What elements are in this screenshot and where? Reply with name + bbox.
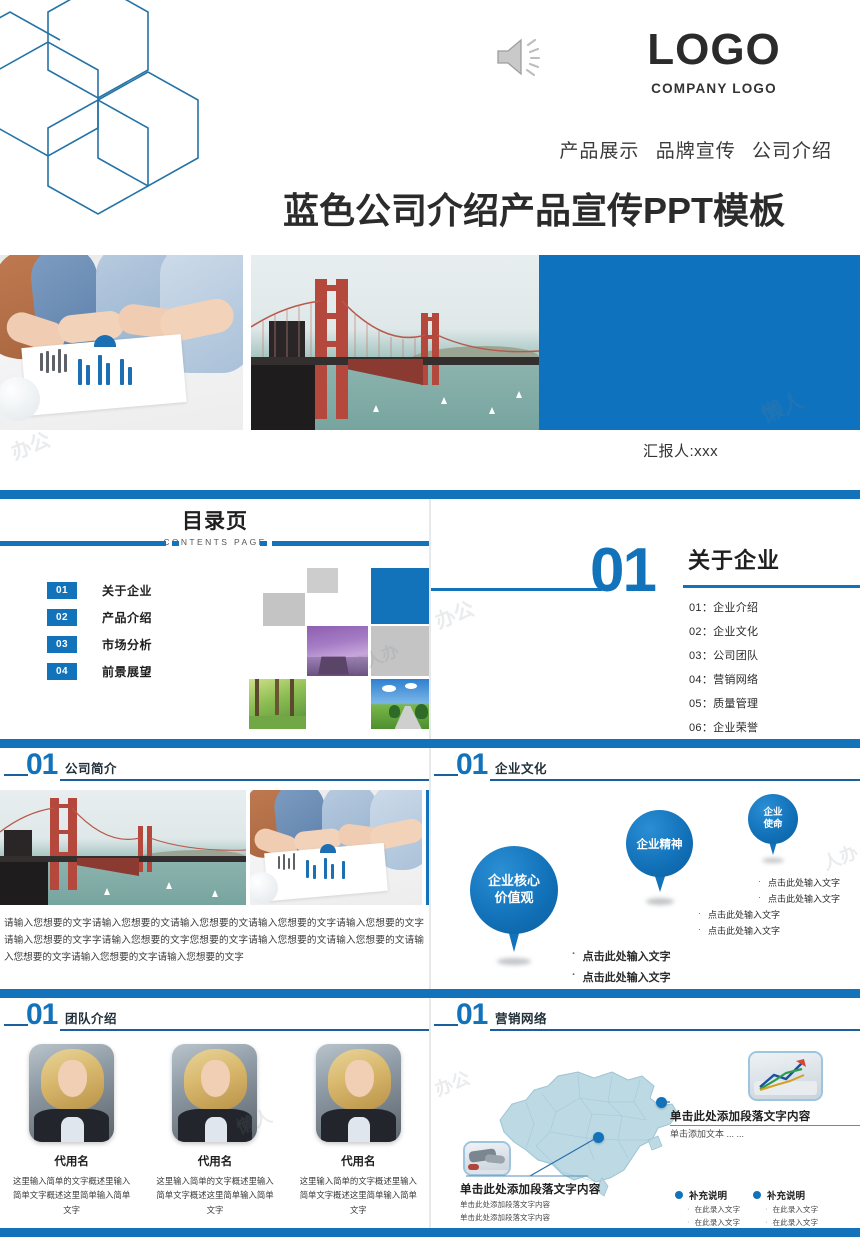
slide-divider: [0, 739, 860, 748]
tagline-item-2: 公司介绍: [752, 141, 832, 162]
culture-note: ·点击此处输入文字: [758, 892, 840, 905]
pin-label: 企业精神: [626, 810, 693, 877]
contents-rule: [0, 541, 430, 546]
map-marker-east[interactable]: [656, 1097, 667, 1108]
contents-item-number: 01: [47, 582, 77, 599]
collage-tile-blue: [371, 568, 430, 624]
tagline-item-1: 品牌宣传: [656, 141, 736, 162]
pin-label: 企业使命: [748, 794, 798, 844]
logo-text: LOGO: [604, 28, 824, 72]
contents-item-04[interactable]: 04 前景展望: [47, 662, 152, 681]
contents-item-02[interactable]: 02 产品介绍: [47, 608, 152, 627]
contents-title-block: 目录页 CONTENTS PAGE: [0, 499, 430, 547]
map-marker-southwest[interactable]: [593, 1132, 604, 1143]
supplement-block-2: 补充说明 ·在此录入文字 ·在此录入文字: [753, 1188, 818, 1228]
slide-row-3: 01 团队介绍 代用名 这里输入简单的文字概述里输入简单文字概述这里简单输入简单…: [0, 998, 860, 1228]
culture-note: ·点击此处输入文字: [572, 948, 671, 964]
speaker-icon: [492, 32, 554, 82]
culture-pin-core-values[interactable]: 企业核心价值观: [470, 846, 558, 934]
header-rule: [60, 779, 430, 781]
profile-body-text: 请输入您想要的文字请输入您想要的文请输入您想要的文请输入您想要的文字请输入您想要…: [4, 916, 424, 966]
header-title: 公司简介: [65, 758, 117, 777]
header-lead-line: [4, 1024, 28, 1026]
logo-block: LOGO COMPANY LOGO: [604, 28, 824, 96]
cover-photo-strip: [0, 255, 860, 430]
slide-row-2: 01 公司简介: [0, 748, 860, 989]
header-number: 01: [26, 1000, 57, 1030]
member-name: 代用名: [155, 1153, 275, 1169]
slide-culture: 01 企业文化 企业核心价值观 ·点击此处输入文字 ·点击此处输入文字 企业精神: [430, 748, 860, 989]
ppt-template-preview: LOGO COMPANY LOGO 产品展示 品牌宣传 公司介绍 蓝色公司介绍产…: [0, 0, 860, 1219]
cover-photo-bridge: [251, 255, 539, 430]
callout-right: 单击此处添加段落文字内容 单击添加文本 ... ...: [670, 1108, 810, 1140]
contents-item-number: 04: [47, 663, 77, 680]
callout-left-sub2: 单击此处添加段落文字内容: [460, 1212, 600, 1223]
team-members: 代用名 这里输入简单的文字概述里输入简单文字概述这里简单输入简单文字 代用名 这…: [0, 1044, 430, 1228]
slide-divider: [0, 490, 860, 499]
reporter-label: 汇报人:xxx: [643, 440, 718, 461]
profile-photo-bridge: [0, 790, 246, 905]
bullet-dot-icon: [675, 1191, 683, 1199]
contents-item-01[interactable]: 01 关于企业: [47, 581, 152, 600]
slide-row-1: 目录页 CONTENTS PAGE 01 关于企业 02 产品介绍: [0, 499, 860, 739]
culture-note: ·点击此处输入文字: [698, 908, 780, 921]
header-title: 营销网络: [495, 1008, 547, 1027]
marketing-content: 单击此处添加段落文字内容 单击添加文本 ... ... 单击此处添加段落文字内容…: [430, 1038, 860, 1228]
pin-label: 企业核心价值观: [470, 846, 558, 934]
supplement-block-1: 补充说明 ·在此录入文字 ·在此录入文字: [675, 1188, 740, 1228]
slide-marketing: 01 营销网络: [430, 998, 860, 1228]
logo-subtitle: COMPANY LOGO: [604, 81, 824, 96]
callout-right-sub: 单击添加文本 ... ...: [670, 1127, 810, 1140]
member-name: 代用名: [298, 1153, 418, 1169]
watermark: 办公: [430, 593, 478, 635]
header-lead-line: [434, 774, 458, 776]
slide-team: 01 团队介绍 代用名 这里输入简单的文字概述里输入简单文字概述这里简单输入简单…: [0, 998, 430, 1228]
culture-notes-spirit: ·点击此处输入文字 ·点击此处输入文字: [698, 908, 780, 940]
culture-note: ·点击此处输入文字: [698, 924, 780, 937]
culture-pin-mission[interactable]: 企业使命: [748, 794, 798, 844]
bullet-dot-icon: [753, 1191, 761, 1199]
slide-header: 01 企业文化: [430, 748, 860, 788]
contents-collage: [249, 566, 430, 729]
section-title: 关于企业: [688, 543, 780, 575]
cover-title: 蓝色公司介绍产品宣传PPT模板: [283, 182, 785, 234]
member-photo: [316, 1044, 401, 1142]
header-title: 企业文化: [495, 758, 547, 777]
section-subitem[interactable]: 02：企业文化: [689, 623, 758, 639]
contents-item-label: 关于企业: [102, 582, 152, 599]
culture-note: ·点击此处输入文字: [758, 876, 840, 889]
contents-item-label: 产品介绍: [102, 609, 152, 626]
callout-right-title: 单击此处添加段落文字内容: [670, 1108, 810, 1124]
team-member[interactable]: 代用名 这里输入简单的文字概述里输入简单文字概述这里简单输入简单文字: [12, 1044, 132, 1228]
collage-tile-gray: [371, 626, 430, 676]
section-rule: [683, 585, 860, 588]
culture-notes-core-values: ·点击此处输入文字 ·点击此处输入文字: [572, 948, 671, 989]
section-subitem[interactable]: 06：企业荣誉: [689, 719, 758, 735]
section-number: 01: [590, 540, 655, 602]
contents-item-03[interactable]: 03 市场分析: [47, 635, 152, 654]
slide-company-profile: 01 公司简介: [0, 748, 430, 989]
callout-left-sub1: 单击此处添加段落文字内容: [460, 1199, 600, 1210]
header-number: 01: [456, 1000, 487, 1030]
header-lead-line: [434, 1024, 458, 1026]
culture-note: ·点击此处输入文字: [572, 969, 671, 985]
section-subitem[interactable]: 03：公司团队: [689, 647, 758, 663]
header-rule: [60, 1029, 430, 1031]
section-lead-line: [430, 588, 602, 591]
supplement-item: ·在此录入文字: [687, 1204, 740, 1215]
slide-header: 01 公司简介: [0, 748, 430, 788]
culture-notes-mission: ·点击此处输入文字 ·点击此处输入文字: [758, 876, 840, 908]
tagline-item-0: 产品展示: [559, 141, 639, 162]
header-lead-line: [4, 774, 28, 776]
slide-header: 01 营销网络: [430, 998, 860, 1038]
profile-images: [0, 790, 430, 905]
cover-photo-meeting: [0, 255, 243, 430]
slide-contents: 目录页 CONTENTS PAGE 01 关于企业 02 产品介绍: [0, 499, 430, 739]
member-desc: 这里输入简单的文字概述里输入简单文字概述这里简单输入简单文字: [298, 1175, 418, 1218]
header-number: 01: [456, 750, 487, 780]
slide-divider: [0, 989, 860, 998]
header-number: 01: [26, 750, 57, 780]
marketing-thumb-chart: [748, 1051, 823, 1101]
collage-tile-photo-dusk: [307, 626, 368, 676]
header-rule: [490, 1029, 860, 1031]
supplement-title: 补充说明: [753, 1188, 818, 1202]
section-subitems: 01：企业介绍 02：企业文化 03：公司团队 04：营销网络 05：质量管理 …: [689, 599, 758, 739]
member-desc: 这里输入简单的文字概述里输入简单文字概述这里简单输入简单文字: [12, 1175, 132, 1218]
contents-item-label: 市场分析: [102, 636, 152, 653]
supplement-title: 补充说明: [675, 1188, 740, 1202]
team-member[interactable]: 代用名 这里输入简单的文字概述里输入简单文字概述这里简单输入简单文字: [155, 1044, 275, 1228]
row-vertical-divider: [429, 748, 431, 989]
collage-tile-photo-road: [371, 679, 430, 729]
row-vertical-divider: [429, 998, 431, 1228]
member-photo: [29, 1044, 114, 1142]
slide-divider: [0, 1228, 860, 1237]
callout-left-title: 单击此处添加段落文字内容: [460, 1181, 600, 1197]
member-name: 代用名: [12, 1153, 132, 1169]
collage-tile-gray: [263, 593, 305, 626]
cover-photo-blue-block: [539, 255, 860, 430]
contents-list: 01 关于企业 02 产品介绍 03 市场分析 04 前景展望: [47, 581, 152, 689]
header-title: 团队介绍: [65, 1008, 117, 1027]
slide-header: 01 团队介绍: [0, 998, 430, 1038]
header-rule: [490, 779, 860, 781]
section-subitem[interactable]: 04：营销网络: [689, 671, 758, 687]
collage-tile-gray: [307, 568, 338, 593]
hexagon-decoration: [0, 0, 270, 242]
section-subitem[interactable]: 05：质量管理: [689, 695, 758, 711]
culture-pin-spirit[interactable]: 企业精神: [626, 810, 693, 877]
cover-tagline: 产品展示 品牌宣传 公司介绍: [549, 136, 832, 163]
section-subitem[interactable]: 01：企业介绍: [689, 599, 758, 615]
row-vertical-divider: [429, 499, 431, 739]
team-member[interactable]: 代用名 这里输入简单的文字概述里输入简单文字概述这里简单输入简单文字: [298, 1044, 418, 1228]
collage-tile-photo-forest: [249, 679, 306, 729]
marketing-thumb-handshake: [463, 1141, 511, 1176]
slide-section-about: 01 关于企业 01：企业介绍 02：企业文化 03：公司团队 04：营销网络 …: [430, 499, 860, 739]
culture-pins: 企业核心价值观 ·点击此处输入文字 ·点击此处输入文字 企业精神 ·点击此处输入…: [430, 788, 860, 988]
contents-item-number: 02: [47, 609, 77, 626]
callout-left: 单击此处添加段落文字内容 单击此处添加段落文字内容 单击此处添加段落文字内容: [460, 1181, 600, 1223]
contents-item-label: 前景展望: [102, 663, 152, 680]
slide-cover: LOGO COMPANY LOGO 产品展示 品牌宣传 公司介绍 蓝色公司介绍产…: [0, 0, 860, 490]
contents-item-number: 03: [47, 636, 77, 653]
contents-title-cn: 目录页: [0, 505, 430, 535]
member-photo: [172, 1044, 257, 1142]
supplement-item: ·在此录入文字: [765, 1204, 818, 1215]
profile-photo-meeting: [250, 790, 422, 905]
member-desc: 这里输入简单的文字概述里输入简单文字概述这里简单输入简单文字: [155, 1175, 275, 1218]
